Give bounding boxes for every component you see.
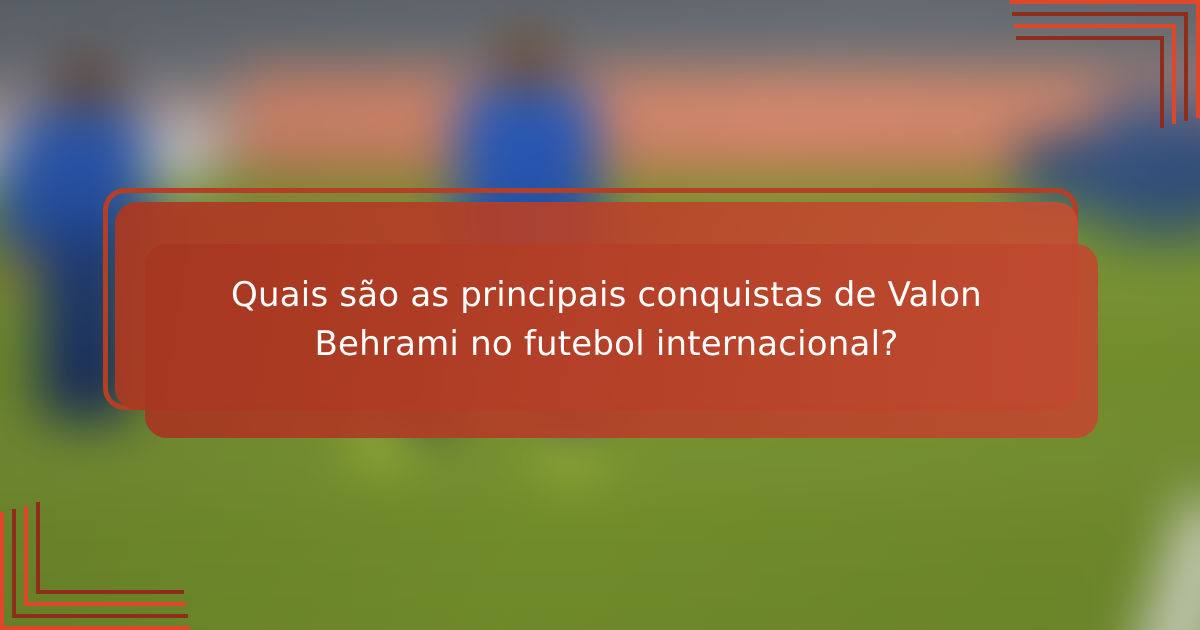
- corner-bracket-segment: [1172, 24, 1176, 124]
- corner-bracket-bottom-left-icon: [0, 500, 200, 630]
- corner-bracket-top-right-icon: [1000, 0, 1200, 130]
- corner-bracket-segment: [36, 590, 184, 594]
- headline-text-content: Quais são as principais conquistas de Va…: [185, 271, 1028, 370]
- corner-bracket-segment: [36, 502, 40, 594]
- corner-bracket-segment: [1160, 36, 1164, 128]
- corner-bracket-segment: [1014, 24, 1176, 28]
- corner-bracket-segment: [24, 506, 28, 606]
- corner-bracket-segment: [0, 626, 190, 630]
- corner-bracket-segment: [1010, 0, 1200, 4]
- corner-bracket-segment: [1012, 12, 1188, 16]
- corner-bracket-segment: [12, 509, 16, 618]
- headline-text: Quais são as principais conquistas de Va…: [115, 202, 1098, 438]
- corner-bracket-segment: [12, 614, 188, 618]
- corner-bracket-segment: [1196, 0, 1200, 118]
- share-card-canvas: Quais são as principais conquistas de Va…: [0, 0, 1200, 630]
- corner-bracket-segment: [24, 602, 186, 606]
- corner-bracket-segment: [1016, 36, 1164, 40]
- corner-bracket-segment: [1184, 12, 1188, 121]
- corner-bracket-segment: [0, 512, 4, 630]
